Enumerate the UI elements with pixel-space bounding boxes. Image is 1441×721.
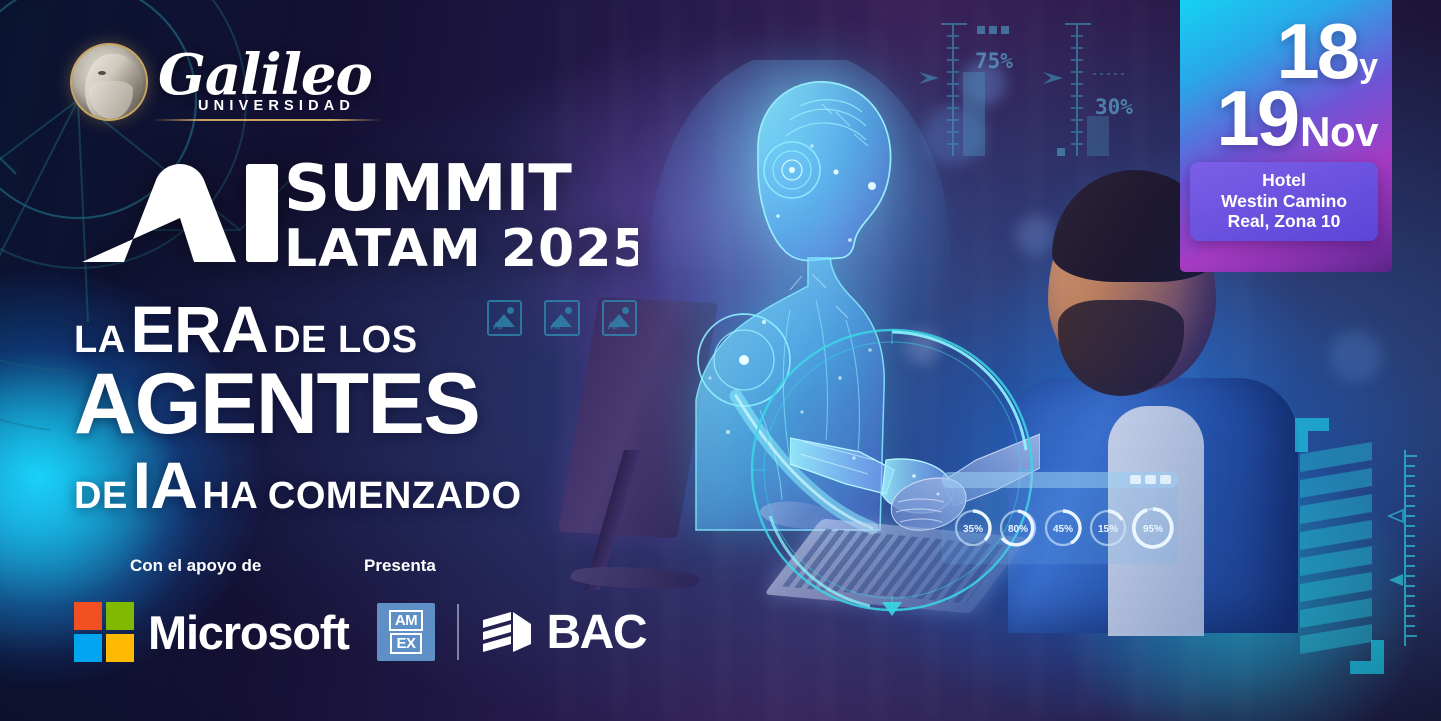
- date-conjunction: y: [1359, 52, 1378, 81]
- tagline-la: LA: [74, 321, 126, 359]
- tagline-era: ERA: [130, 296, 268, 362]
- amex-line-2: EX: [390, 633, 421, 654]
- microsoft-squares-icon: [74, 602, 134, 662]
- title-latam-year: LATAM 2025: [284, 219, 638, 272]
- university-name: Galileo: [158, 50, 372, 102]
- bust-eye-shape: [98, 71, 106, 75]
- venue-line-1: Hotel: [1200, 170, 1368, 191]
- presents-label: Presenta: [334, 556, 436, 576]
- bac-logo: BAC: [481, 605, 647, 660]
- event-banner: Ai Ai Ai: [0, 0, 1441, 721]
- sponsors-section: Con el apoyo de Presenta Microsoft AM EX: [74, 556, 694, 686]
- bac-wordmark: BAC: [547, 605, 647, 660]
- university-subtitle: UNIVERSIDAD: [198, 98, 372, 114]
- sponsor-labels: Con el apoyo de Presenta: [74, 556, 694, 576]
- microsoft-wordmark: Microsoft: [148, 605, 349, 660]
- support-label: Con el apoyo de: [74, 556, 334, 576]
- tagline-de-los: DE LOS: [273, 321, 417, 359]
- tagline-agentes: AGENTES: [74, 364, 479, 446]
- galileo-bust-portrait-icon: [70, 43, 148, 121]
- bac-mark-icon: [481, 606, 537, 658]
- tagline-ha-comenzado: HA COMENZADO: [202, 477, 521, 515]
- ms-square-yellow: [106, 634, 134, 662]
- venue-badge: Hotel Westin Camino Real, Zona 10: [1190, 162, 1378, 241]
- tagline-ia: IA: [133, 452, 198, 518]
- date-venue-panel: 18 y 19 Nov Hotel Westin Camino Real, Zo…: [1180, 0, 1392, 272]
- galileo-wordmark: Galileo UNIVERSIDAD: [158, 50, 372, 114]
- month: Nov: [1300, 114, 1378, 150]
- tagline-line-2: AGENTES: [74, 364, 674, 446]
- day-2: 19: [1216, 85, 1297, 152]
- presenting-sponsor-logos: AM EX BAC: [377, 603, 646, 661]
- tagline-line-3: DE IA HA COMENZADO: [74, 452, 674, 518]
- tagline-line-1: LA ERA DE LOS: [74, 296, 674, 362]
- logo-divider: [457, 604, 459, 660]
- microsoft-logo: Microsoft: [74, 602, 374, 662]
- title-summit: SUMMIT: [284, 152, 572, 226]
- event-tagline: LA ERA DE LOS AGENTES DE IA HA COMENZADO: [74, 296, 674, 518]
- amex-line-1: AM: [389, 610, 423, 631]
- ms-square-red: [74, 602, 102, 630]
- venue-line-2: Westin Camino: [1200, 191, 1368, 212]
- date-line-2: 19 Nov: [1190, 85, 1378, 152]
- ms-square-green: [106, 602, 134, 630]
- galileo-university-logo: Galileo UNIVERSIDAD: [70, 32, 370, 132]
- ms-square-blue: [74, 634, 102, 662]
- tagline-de: DE: [74, 477, 128, 515]
- logo-underline: [152, 119, 382, 121]
- sponsor-logos: Microsoft AM EX: [74, 602, 694, 662]
- amex-logo: AM EX: [377, 603, 435, 661]
- event-title: SUMMIT LATAM 2025: [78, 132, 638, 272]
- venue-line-3: Real, Zona 10: [1200, 211, 1368, 232]
